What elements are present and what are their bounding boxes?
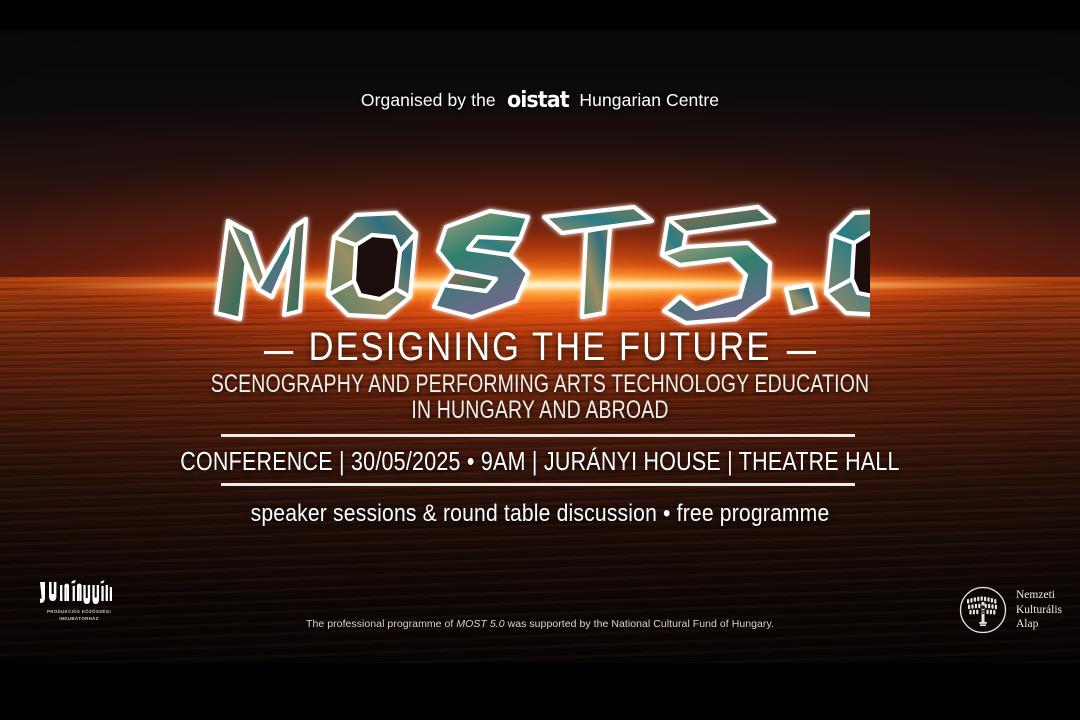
title-letter-0: [826, 211, 870, 315]
nka-tree-emblem-icon: [959, 586, 1007, 634]
title-letter-S: [434, 211, 528, 317]
subtitle-line-1: SCENOGRAPHY AND PERFORMING ARTS TECHNOLO…: [119, 370, 961, 399]
title-letter-M: [216, 219, 306, 319]
organised-suffix: Hungarian Centre: [579, 90, 719, 111]
tagline: DESIGNING THE FUTURE: [76, 325, 1005, 370]
organised-by-line: Organised by the oistat Hungarian Centre: [0, 88, 1080, 113]
nka-line-3: Alap: [1016, 617, 1062, 632]
title-letter-5: [662, 207, 774, 323]
poster-canvas: Organised by the oistat Hungarian Centre: [0, 0, 1080, 720]
conference-details: CONFERENCE | 30/05/2025 • 9AM | JURÁNYI …: [86, 448, 993, 477]
title-letter-dot: [786, 285, 816, 313]
juranyi-logo: PRODUKCIÓS KÖZÖSSÉGI INKUBÁTORHÁZ: [36, 580, 122, 622]
subtitle-line-2: IN HUNGARY AND ABROAD: [119, 396, 961, 425]
tagline-text: DESIGNING THE FUTURE: [309, 325, 772, 369]
nka-line-2: Kulturális: [1016, 603, 1062, 618]
divider-top: [221, 434, 855, 437]
footnote-title: MOST 5.0: [456, 618, 504, 630]
support-footnote: The professional programme of MOST 5.0 w…: [0, 618, 1080, 630]
juranyi-caption: PRODUKCIÓS KÖZÖSSÉGI INKUBÁTORHÁZ: [36, 609, 122, 622]
footnote-suffix: was supported by the National Cultural F…: [505, 618, 774, 630]
juranyi-caption-line1: PRODUKCIÓS KÖZÖSSÉGI: [47, 609, 111, 614]
nka-line-1: Nemzeti: [1016, 588, 1062, 603]
footnote-prefix: The professional programme of: [306, 618, 456, 630]
oistat-logo: oistat: [507, 88, 569, 113]
poster-content: Organised by the oistat Hungarian Centre: [0, 0, 1080, 720]
title-letter-T: [544, 207, 652, 317]
letterbox-bar-bottom: [0, 663, 1080, 720]
main-title-artwork: [210, 193, 870, 328]
programme-line: speaker sessions & round table discussio…: [65, 500, 1015, 528]
organised-prefix: Organised by the: [361, 90, 496, 111]
juranyi-wordmark-icon: [36, 580, 122, 606]
nka-logo: Nemzeti Kulturális Alap: [959, 586, 1062, 634]
divider-bottom: [221, 483, 855, 486]
juranyi-caption-line2: INKUBÁTORHÁZ: [59, 616, 99, 621]
main-title: [0, 193, 1080, 328]
tagline-dash-right: [787, 351, 816, 354]
nka-text: Nemzeti Kulturális Alap: [1016, 588, 1062, 632]
letterbox-bar-top: [0, 0, 1080, 30]
title-letter-O: [328, 213, 416, 317]
tagline-dash-left: [264, 351, 293, 354]
